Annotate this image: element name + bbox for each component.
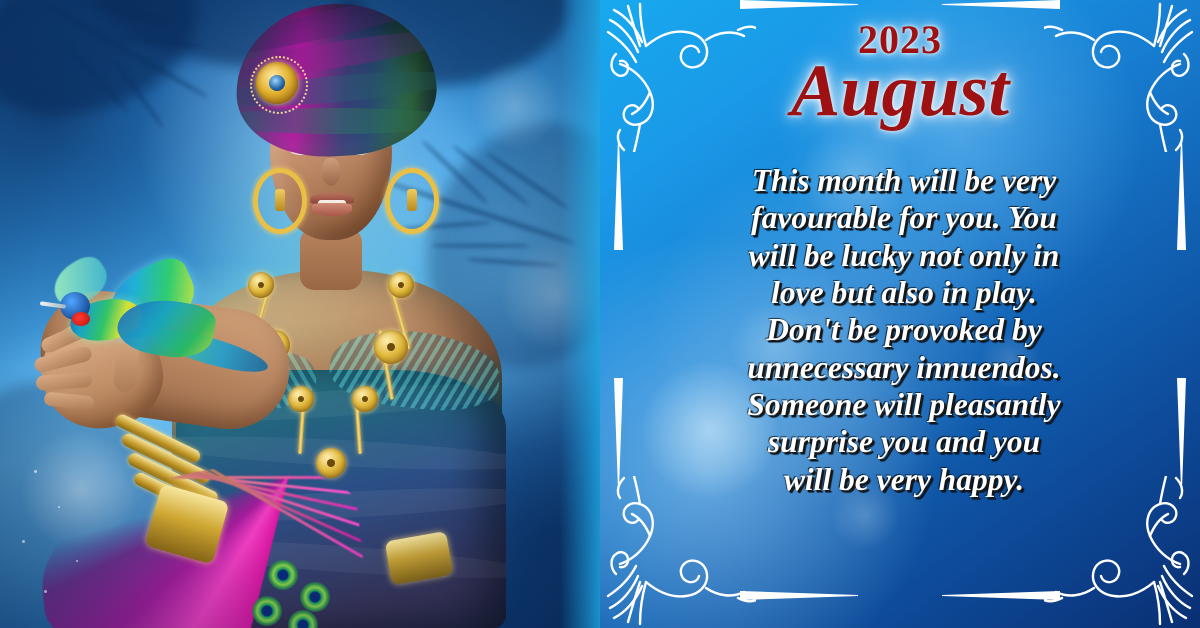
photo-vignette: [0, 0, 600, 628]
panel-seam: [560, 0, 600, 628]
horoscope-line: unnecessary innuendos.: [678, 349, 1130, 386]
horoscope-line: This month will be very: [678, 162, 1130, 199]
horoscope-line: Someone will pleasantly: [678, 386, 1130, 423]
ornament-spike-right-lower: [1177, 378, 1186, 488]
ornament-spike-bottom-left: [740, 591, 858, 600]
horoscope-text: This month will be very favourable for y…: [678, 162, 1130, 498]
ornament-spike-left-lower: [614, 378, 623, 488]
corner-ornament-bottom-left: [606, 476, 756, 626]
ornament-spike-top-right: [942, 0, 1060, 9]
text-panel: 2023 August This month will be very favo…: [600, 0, 1200, 628]
month-heading: August: [600, 54, 1200, 128]
horoscope-line: will be lucky not only in: [678, 237, 1130, 274]
ornament-spike-bottom-right: [942, 591, 1060, 600]
horoscope-line: love but also in play.: [678, 274, 1130, 311]
ornament-spike-top-left: [740, 0, 858, 9]
horoscope-line: surprise you and you: [678, 423, 1130, 460]
corner-ornament-bottom-right: [1044, 476, 1194, 626]
horoscope-line: Don't be provoked by: [678, 311, 1130, 348]
horoscope-line: favourable for you. You: [678, 199, 1130, 236]
ornament-spike-left-upper: [614, 140, 623, 250]
illustration-panel: [0, 0, 600, 628]
horoscope-line: will be very happy.: [678, 461, 1130, 498]
horoscope-card: 2023 August This month will be very favo…: [0, 0, 1200, 628]
ornament-spike-right-upper: [1177, 140, 1186, 250]
